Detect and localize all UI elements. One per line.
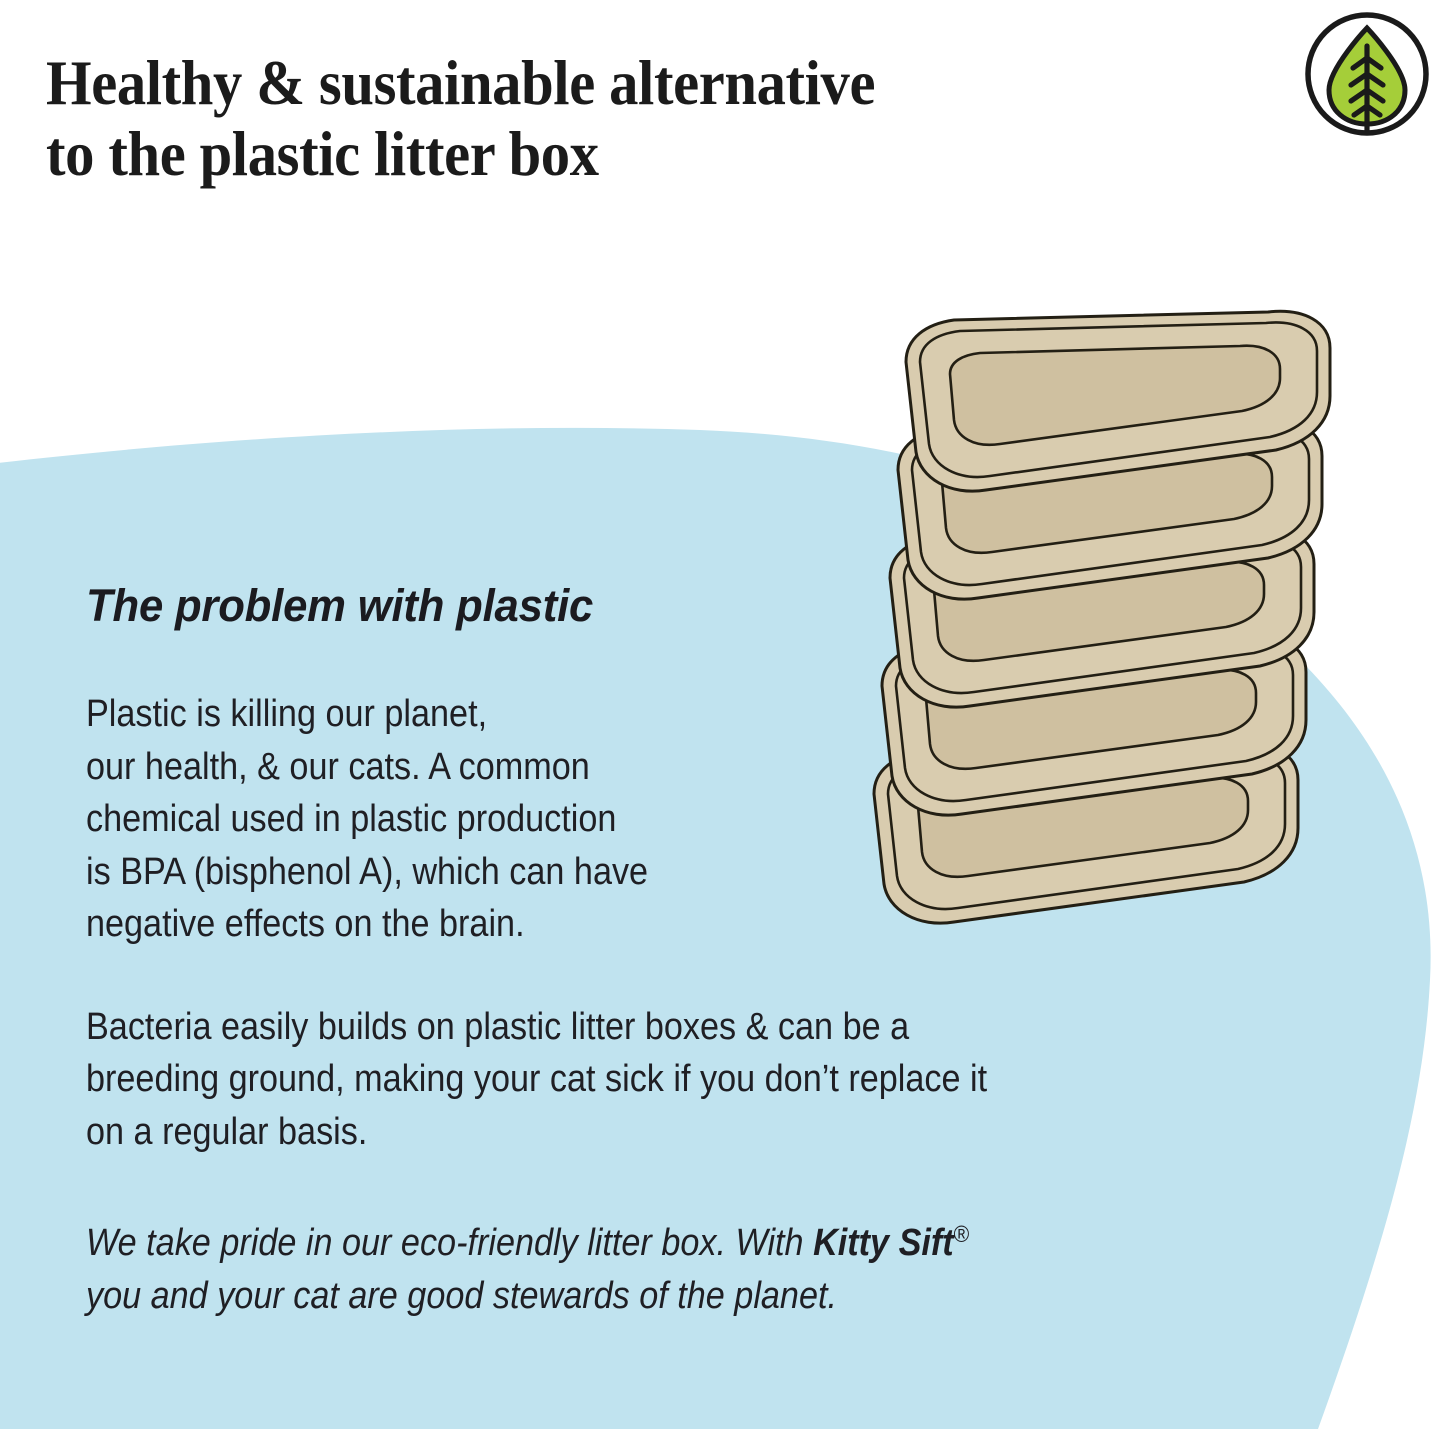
paragraph-line: breeding ground, making your cat sick if… xyxy=(86,1053,1139,1106)
headline-line-1: Healthy & sustainable alternative xyxy=(46,48,1153,119)
infographic-page: Healthy & sustainable alternative to the… xyxy=(0,0,1445,1429)
paragraph-line: our health, & our cats. A common xyxy=(86,741,1139,794)
registered-trademark-mark: ® xyxy=(954,1221,970,1247)
paragraph-problem-with-plastic: Plastic is killing our planet, our healt… xyxy=(86,688,1139,951)
pride-line-1-prefix: We take pride in our eco-friendly litter… xyxy=(86,1222,813,1264)
paragraph-line: on a regular basis. xyxy=(86,1106,1139,1159)
paragraph-line: Plastic is killing our planet, xyxy=(86,688,1139,741)
leaf-icon xyxy=(1299,6,1435,142)
paragraph-line: you and your cat are good stewards of th… xyxy=(86,1270,1139,1323)
headline-line-2: to the plastic litter box xyxy=(46,119,1153,190)
paragraph-brand-pride: We take pride in our eco-friendly litter… xyxy=(86,1208,1139,1323)
brand-name: Kitty Sift xyxy=(813,1222,954,1264)
paragraph-line: chemical used in plastic production xyxy=(86,793,1139,846)
page-title: Healthy & sustainable alternative to the… xyxy=(46,48,1153,190)
section-heading: The problem with plastic xyxy=(86,580,1221,632)
paragraph-line: negative effects on the brain. xyxy=(86,898,1139,951)
paragraph-line: is BPA (bisphenol A), which can have xyxy=(86,846,1139,899)
paragraph-line: We take pride in our eco-friendly litter… xyxy=(86,1208,1139,1270)
paragraph-bacteria: Bacteria easily builds on plastic litter… xyxy=(86,1001,1139,1159)
paragraph-line: Bacteria easily builds on plastic litter… xyxy=(86,1001,1139,1054)
content-column: The problem with plastic Plastic is kill… xyxy=(86,580,1256,1323)
